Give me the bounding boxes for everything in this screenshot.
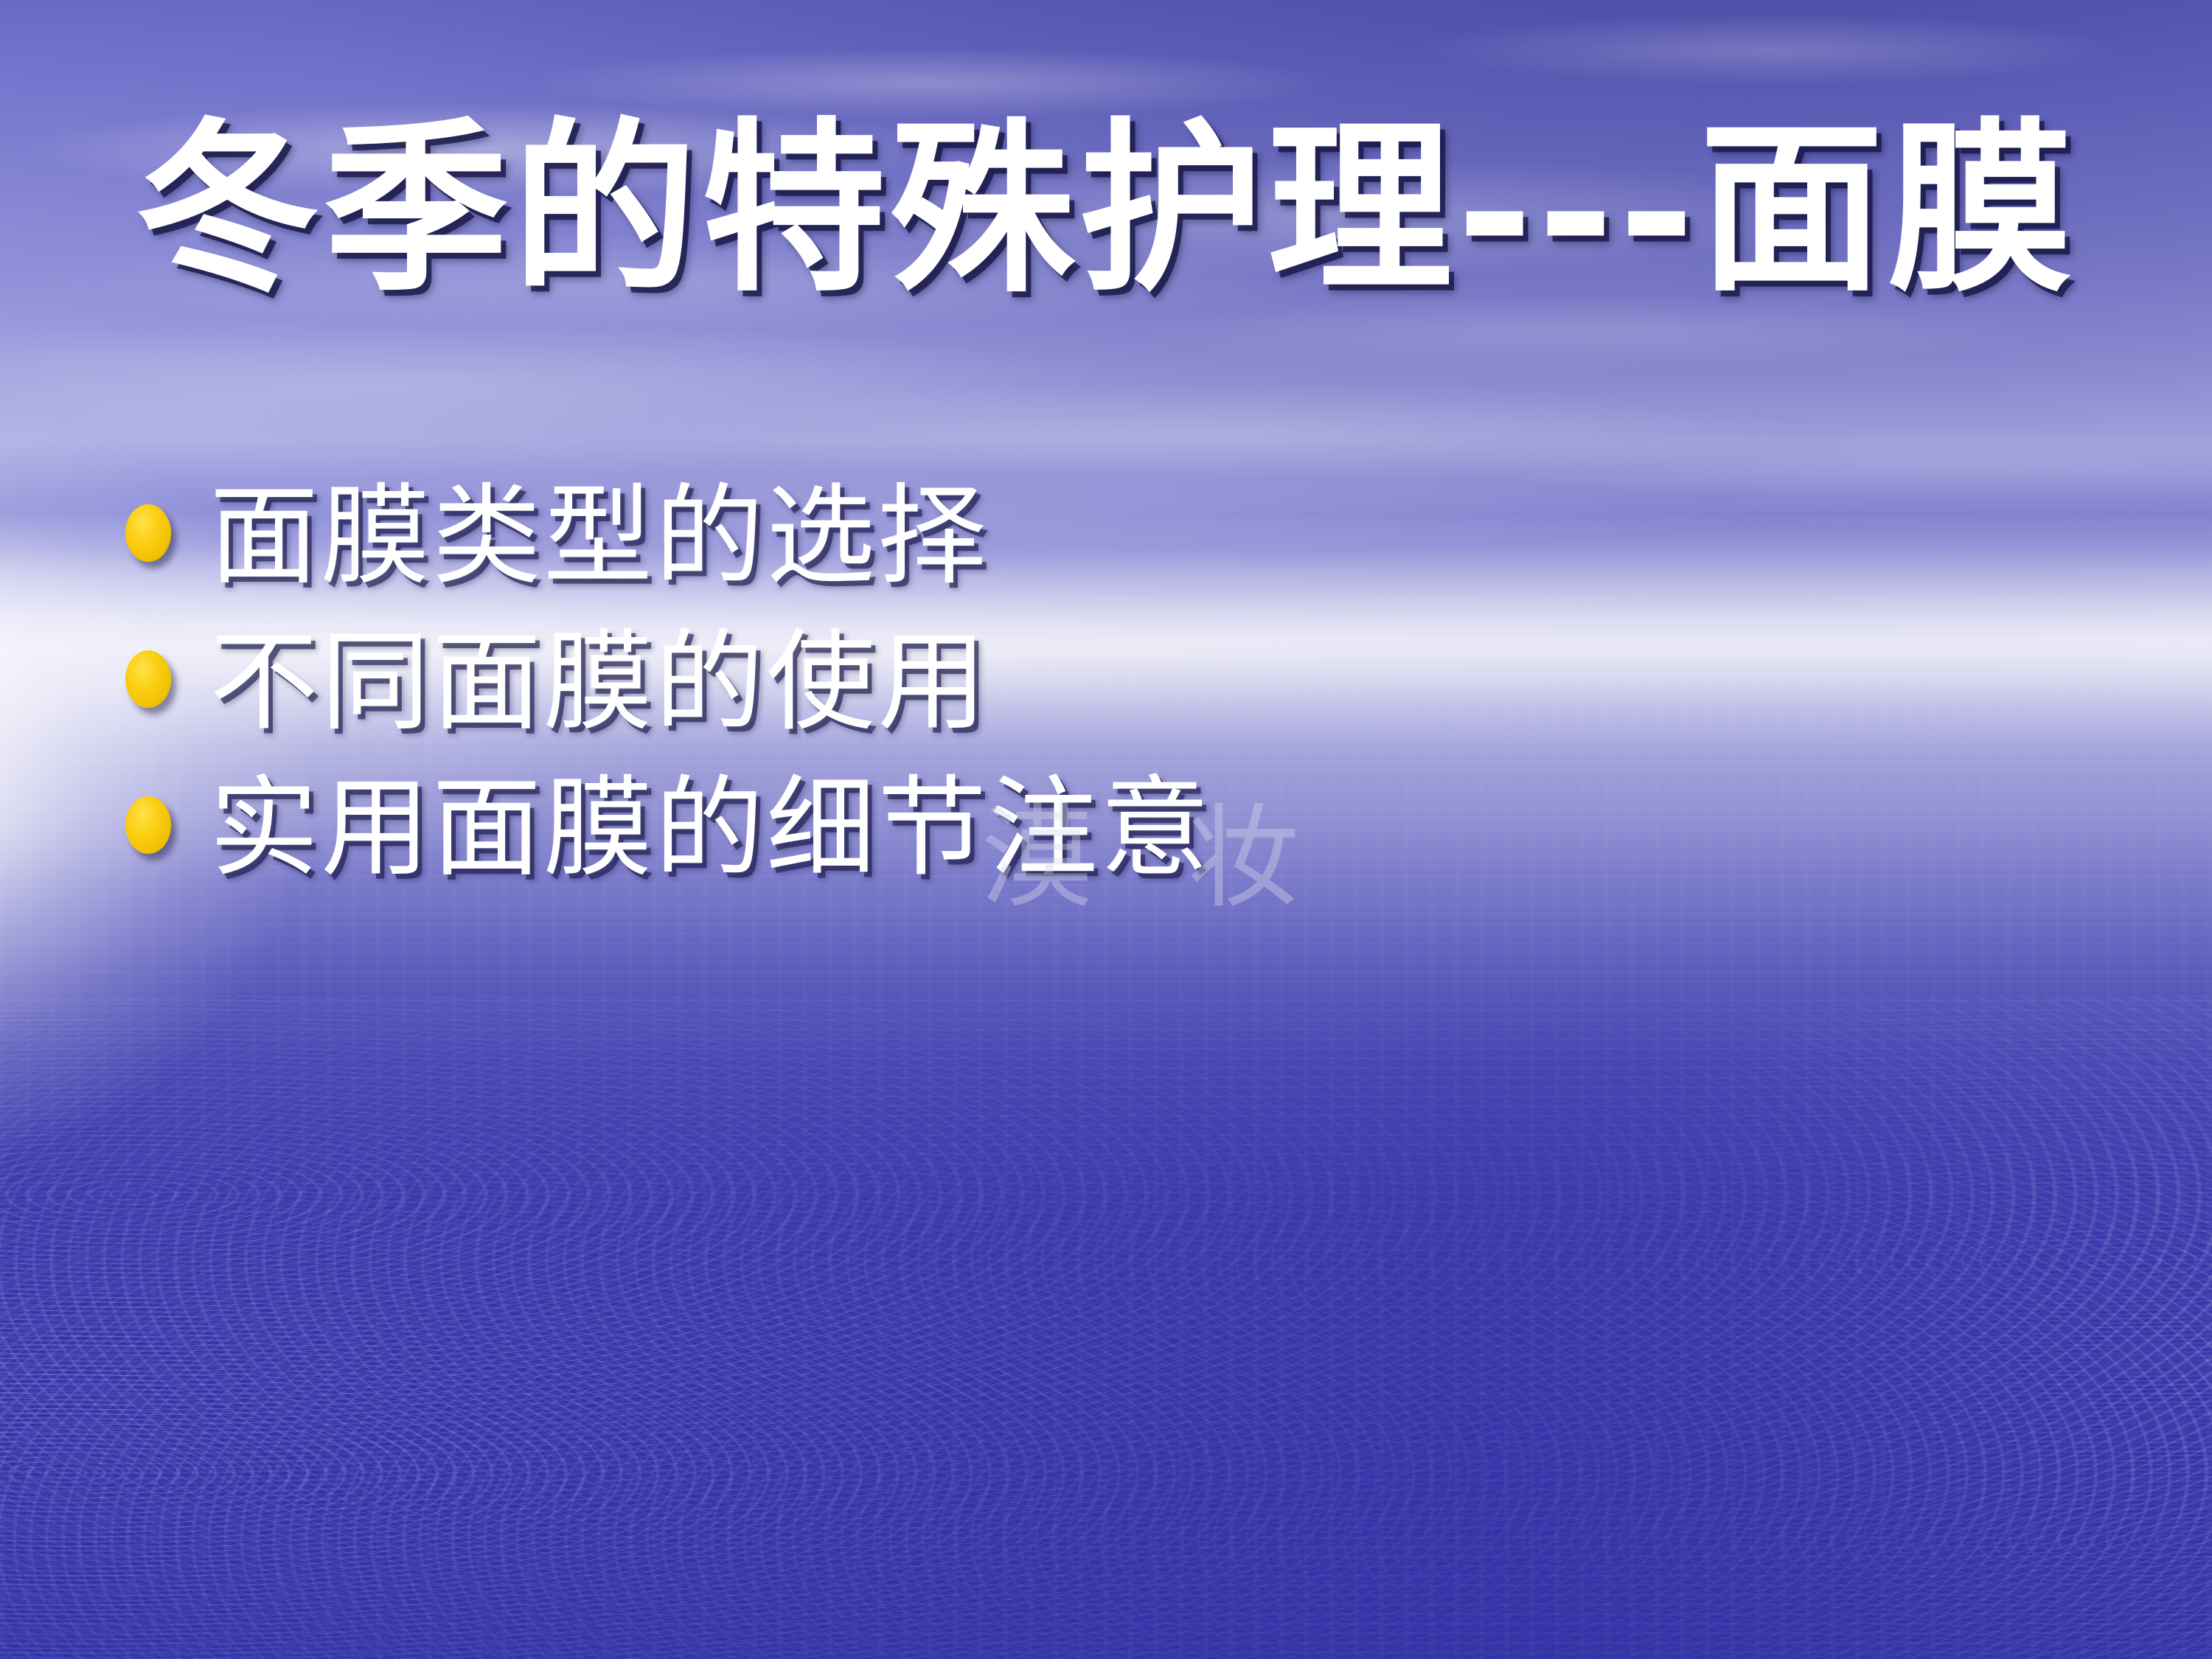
- list-item: 面膜类型的选择: [125, 479, 2116, 597]
- slide-title: 冬季的特殊护理---面膜: [0, 111, 2212, 306]
- list-item-label: 不同面膜的使用: [209, 625, 989, 740]
- gold-oval-bullet-icon: [125, 504, 171, 562]
- gold-oval-bullet-icon: [125, 796, 171, 854]
- list-item-label: 面膜类型的选择: [209, 479, 989, 594]
- presentation-slide: 冬季的特殊护理---面膜 面膜类型的选择 不同面膜的使用 实用面膜的细节注意 漠…: [0, 0, 2212, 1659]
- list-item: 不同面膜的使用: [125, 625, 2116, 743]
- slide-content: 冬季的特殊护理---面膜 面膜类型的选择 不同面膜的使用 实用面膜的细节注意 漠…: [0, 0, 2212, 1659]
- gold-oval-bullet-icon: [125, 650, 171, 708]
- watermark-text: 漠 妆: [981, 767, 1329, 929]
